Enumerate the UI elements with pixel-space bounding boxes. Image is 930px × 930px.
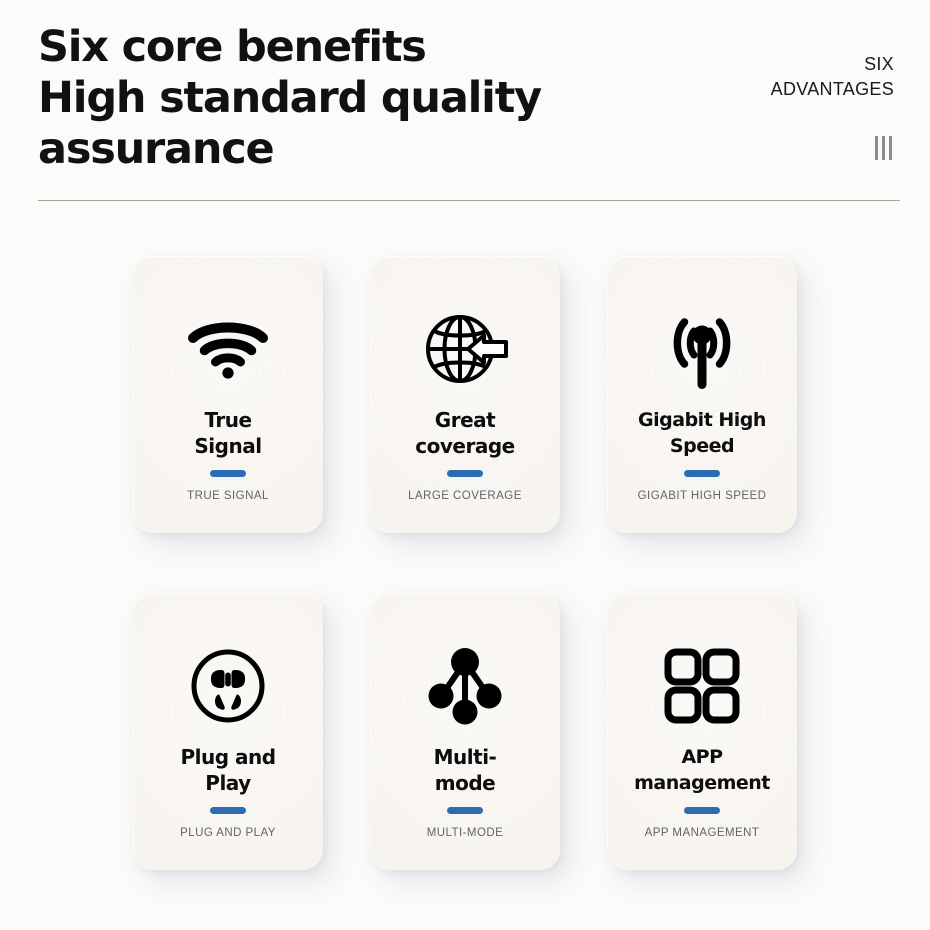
title-line-2: Speed bbox=[670, 435, 734, 457]
header-kicker-line-2: ADVANTAGES bbox=[664, 77, 894, 102]
accent-divider bbox=[210, 470, 246, 477]
title-line-1: Multi- bbox=[434, 745, 497, 769]
wifi-signal-icon bbox=[187, 301, 269, 397]
title-line-1: Great bbox=[435, 408, 495, 432]
title-line-2: management bbox=[634, 772, 770, 794]
antenna-broadcast-icon bbox=[662, 301, 742, 397]
accent-divider bbox=[447, 807, 483, 814]
benefit-card-title: True Signal bbox=[144, 407, 312, 459]
benefit-card-caption: GIGABIT HIGH SPEED bbox=[613, 490, 791, 502]
benefit-card-title: APP management bbox=[618, 744, 786, 796]
benefit-card-caption: LARGE COVERAGE bbox=[376, 490, 554, 502]
benefit-card-title: Plug and Play bbox=[144, 744, 312, 796]
accent-divider bbox=[684, 807, 720, 814]
title-line-2: mode bbox=[435, 771, 495, 795]
title-line-2: coverage bbox=[415, 434, 514, 458]
title-line-1: Gigabit High bbox=[638, 409, 766, 431]
power-socket-icon bbox=[189, 638, 267, 734]
page-header: Six core benefits High standard quality … bbox=[0, 0, 930, 205]
benefits-grid: True Signal TRUE SIGNAL Great coverage L… bbox=[133, 256, 797, 870]
title-line-2: Play bbox=[205, 771, 250, 795]
accent-divider bbox=[447, 470, 483, 477]
benefit-card-title: Multi- mode bbox=[381, 744, 549, 796]
app-grid-icon bbox=[664, 638, 740, 734]
benefit-card-title: Gigabit High Speed bbox=[618, 407, 786, 459]
benefit-card-gigabit-high-speed[interactable]: Gigabit High Speed GIGABIT HIGH SPEED bbox=[607, 256, 797, 533]
benefit-card-great-coverage[interactable]: Great coverage LARGE COVERAGE bbox=[370, 256, 560, 533]
page-title-line-1: Six core benefits bbox=[38, 22, 598, 73]
network-nodes-icon bbox=[427, 638, 503, 734]
bar-2 bbox=[882, 136, 885, 160]
benefit-card-caption: APP MANAGEMENT bbox=[613, 827, 791, 839]
benefit-card-caption: TRUE SIGNAL bbox=[139, 490, 317, 502]
title-line-1: Plug and bbox=[180, 745, 275, 769]
benefit-card-app-management[interactable]: APP management APP MANAGEMENT bbox=[607, 593, 797, 870]
title-line-1: APP bbox=[681, 746, 722, 768]
header-kicker: SIX ADVANTAGES bbox=[664, 52, 894, 102]
globe-arrow-coverage-icon bbox=[422, 301, 508, 397]
title-line-2: Signal bbox=[194, 434, 261, 458]
accent-divider bbox=[684, 470, 720, 477]
bar-3 bbox=[889, 136, 892, 160]
page-title-line-2: High standard quality bbox=[38, 73, 598, 124]
benefit-card-caption: MULTI-MODE bbox=[376, 827, 554, 839]
title-line-1: True bbox=[204, 408, 251, 432]
benefit-card-plug-and-play[interactable]: Plug and Play PLUG AND PLAY bbox=[133, 593, 323, 870]
header-divider bbox=[38, 200, 900, 201]
benefit-card-caption: PLUG AND PLAY bbox=[139, 827, 317, 839]
accent-divider bbox=[210, 807, 246, 814]
benefit-card-true-signal[interactable]: True Signal TRUE SIGNAL bbox=[133, 256, 323, 533]
page-title-line-3: assurance bbox=[38, 124, 598, 175]
three-vertical-bars-icon bbox=[875, 136, 892, 160]
header-kicker-line-1: SIX bbox=[664, 52, 894, 77]
bar-1 bbox=[875, 136, 878, 160]
page-title: Six core benefits High standard quality … bbox=[38, 22, 598, 175]
benefit-card-title: Great coverage bbox=[381, 407, 549, 459]
benefit-card-multi-mode[interactable]: Multi- mode MULTI-MODE bbox=[370, 593, 560, 870]
